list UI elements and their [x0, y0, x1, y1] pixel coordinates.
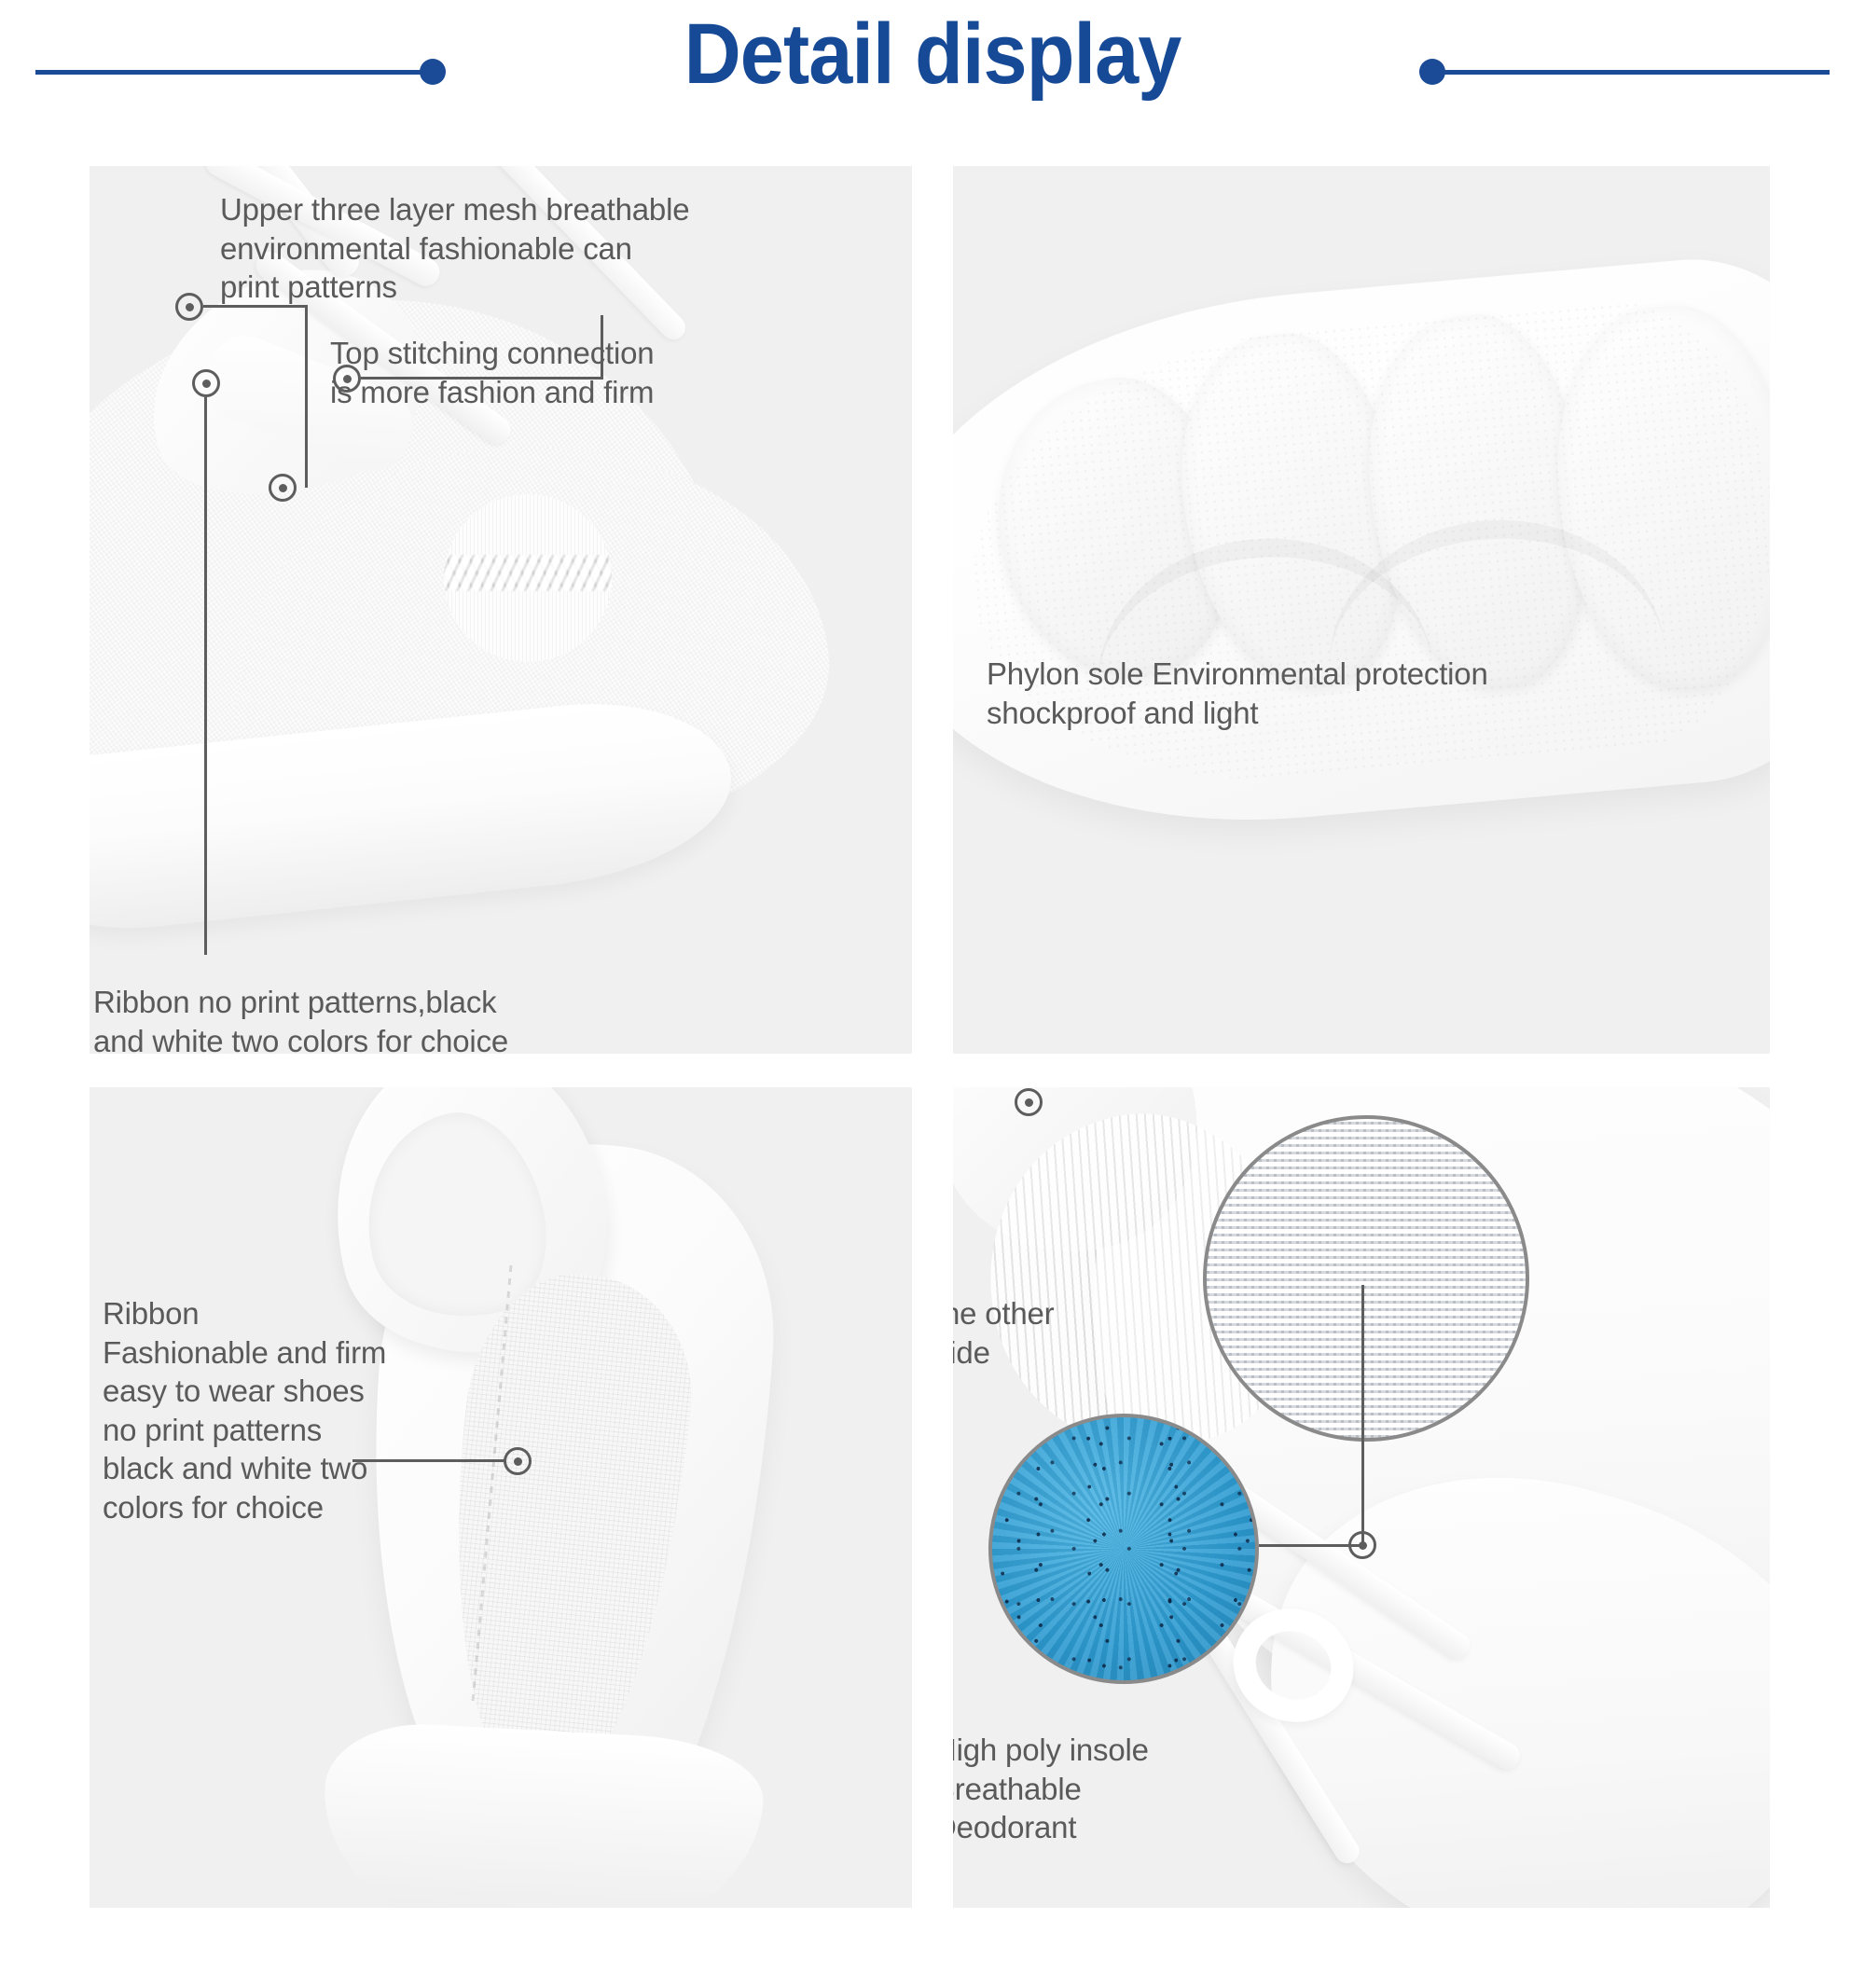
- leader-line-mesh-v: [305, 305, 308, 488]
- right-decorative-rule: [1436, 70, 1830, 75]
- leader-line-stitch-v: [601, 315, 603, 380]
- ribbon-detail-callout: Ribbon Fashionable and firm easy to wear…: [103, 1294, 504, 1526]
- phylon-sole-callout: Phylon sole Environmental protection sho…: [987, 655, 1733, 732]
- ribbon-callout: Ribbon no print patterns,black and white…: [93, 983, 634, 1054]
- ribbon-heel-panel: Ribbon Fashionable and firm easy to wear…: [90, 1087, 912, 1908]
- high-poly-insole-callout: High poly insole Breathable Deodorant: [953, 1731, 1326, 1847]
- phylon-sole-photo: [953, 166, 1770, 1054]
- callout-marker-ribbon[interactable]: [192, 369, 220, 397]
- mesh-magnifier: [1203, 1115, 1529, 1442]
- callout-marker-top-stitching[interactable]: [175, 293, 203, 321]
- other-side-callout: the other side: [953, 1294, 1214, 1372]
- phylon-sole-panel: Phylon sole Environmental protection sho…: [953, 166, 1770, 1054]
- page-header: Detail display: [0, 0, 1865, 149]
- detail-display-page: Detail display Upper three layer mesh b: [0, 0, 1865, 1988]
- stitching-magnifier: [444, 494, 612, 662]
- callout-marker-ribbon-detail[interactable]: [504, 1447, 532, 1475]
- page-title: Detail display: [75, 11, 1790, 97]
- callout-marker-insole-point[interactable]: [1348, 1531, 1376, 1559]
- leader-line-stitch-h: [361, 377, 603, 380]
- stitch-texture: [444, 555, 612, 592]
- upper-mesh-callout: Upper three layer mesh breathable enviro…: [220, 190, 836, 307]
- upper-mesh-panel: Upper three layer mesh breathable enviro…: [90, 166, 912, 1054]
- top-stitching-callout: Top stitching connection is more fashion…: [330, 334, 768, 411]
- heel-base: [317, 1719, 766, 1908]
- leader-line-ribbon-detail: [352, 1459, 505, 1462]
- leader-line-ribbon-v: [204, 397, 207, 955]
- callout-marker-mesh[interactable]: [269, 474, 297, 502]
- callout-marker-stitch-point[interactable]: [333, 365, 361, 393]
- insole-magnifier: [988, 1414, 1259, 1684]
- leader-line-insole-v: [1361, 1285, 1364, 1546]
- leader-line-mesh-h: [203, 305, 308, 308]
- callout-marker-insole[interactable]: [1015, 1088, 1043, 1116]
